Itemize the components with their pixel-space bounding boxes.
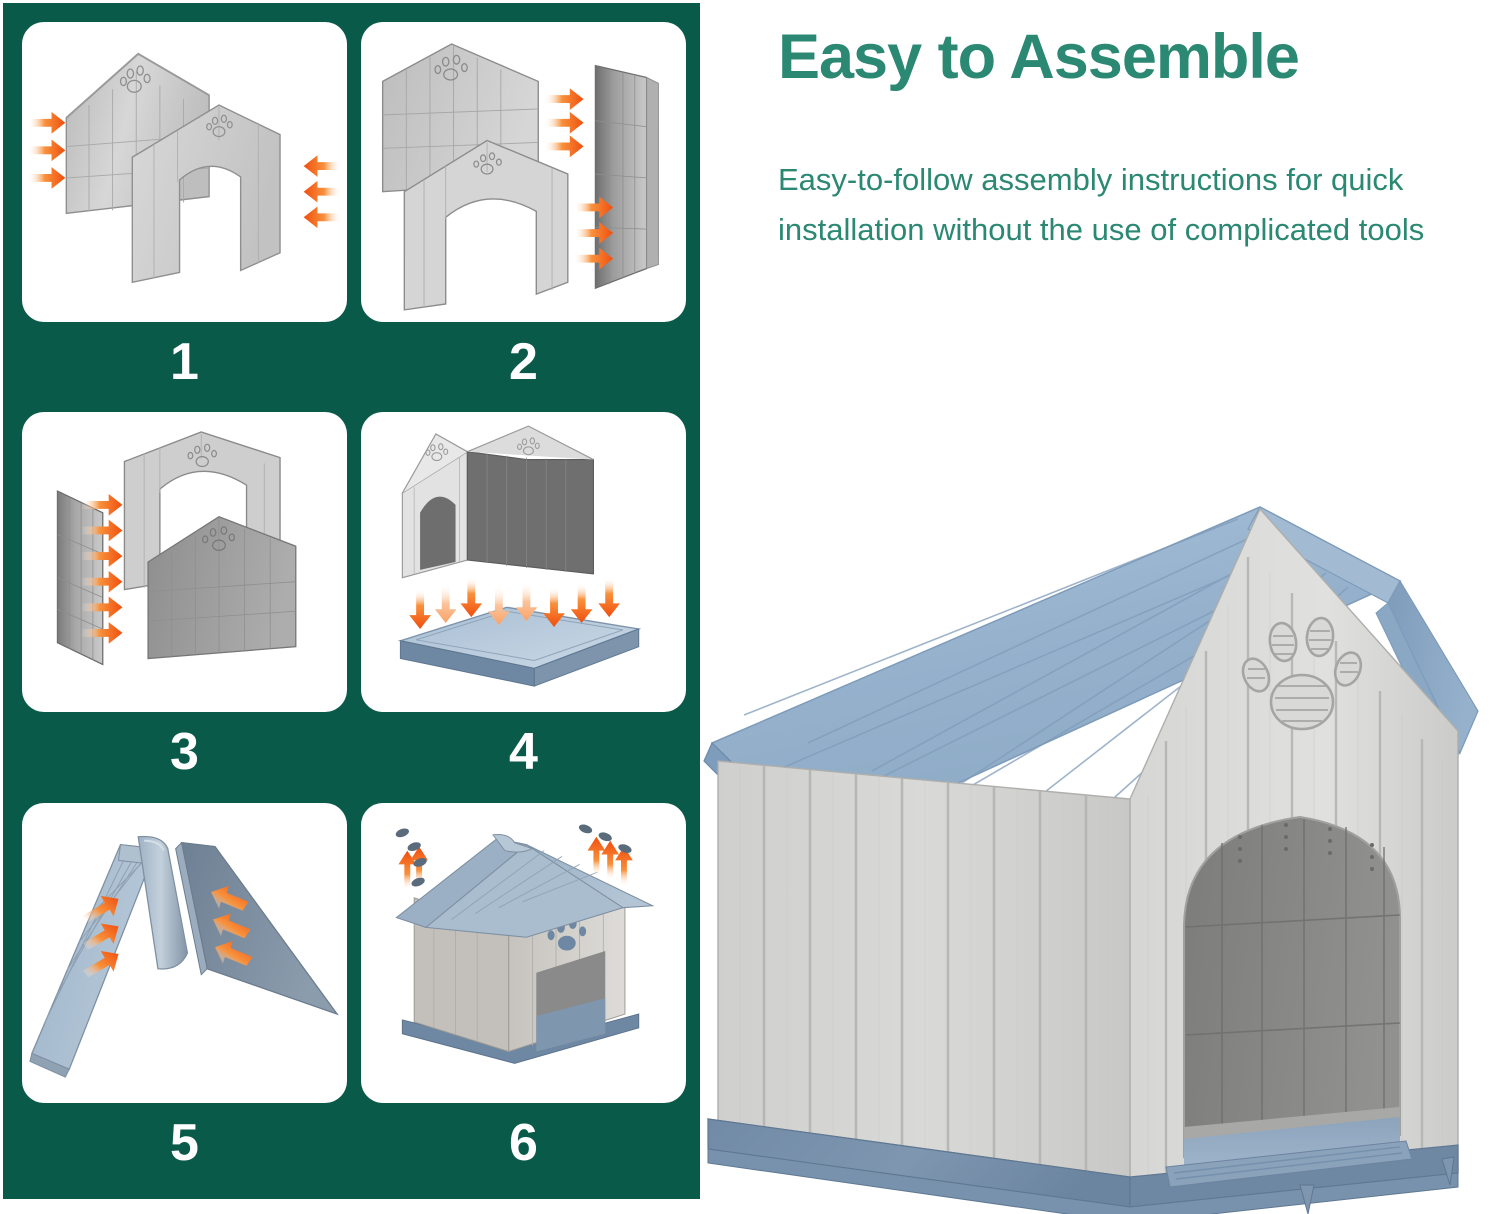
step-2-illustration (361, 22, 686, 322)
page-title: Easy to Assemble (778, 24, 1468, 90)
assembly-steps-panel: 1 (3, 3, 700, 1199)
step-3-illustration (22, 412, 347, 712)
assembled-walls (402, 426, 593, 578)
step-1-illustration (22, 22, 347, 322)
product-hero-image (700, 495, 1500, 1214)
assembly-step-1: 1 (22, 22, 347, 412)
step-4-number: 4 (509, 726, 538, 778)
page-subtitle: Easy-to-follow assembly instructions for… (778, 155, 1478, 255)
step-3-image-card (22, 412, 347, 712)
assembly-step-2: 2 (361, 22, 686, 412)
step-1-image-card (22, 22, 347, 322)
arrow-group-right (304, 155, 341, 228)
step-5-illustration (22, 803, 347, 1103)
step-2-image-card (361, 22, 686, 322)
assembly-step-3: 3 (22, 412, 347, 802)
step-2-number: 2 (509, 336, 538, 388)
roof-half-right (176, 842, 338, 1013)
step-4-illustration (361, 412, 686, 712)
arrow-group-lower (574, 197, 613, 270)
roof-half-left (30, 844, 156, 1076)
back-gable-panel-dark (148, 517, 296, 659)
step-1-number: 1 (170, 336, 199, 388)
assembly-step-6: 6 (361, 803, 686, 1193)
arrow-group-upper (544, 88, 583, 157)
step-6-illustration (361, 803, 686, 1103)
assembly-step-4: 4 (361, 412, 686, 802)
assembly-step-5: 5 (22, 803, 347, 1193)
step-3-number: 3 (170, 726, 199, 778)
step-5-number: 5 (170, 1117, 199, 1169)
step-4-image-card (361, 412, 686, 712)
dog-house-illustration (700, 495, 1500, 1214)
arrow-group-left (28, 112, 65, 189)
step-6-number: 6 (509, 1117, 538, 1169)
door-opening (1184, 817, 1400, 1181)
step-5-image-card (22, 803, 347, 1103)
step-6-image-card (361, 803, 686, 1103)
base-floor-tray (400, 608, 638, 687)
